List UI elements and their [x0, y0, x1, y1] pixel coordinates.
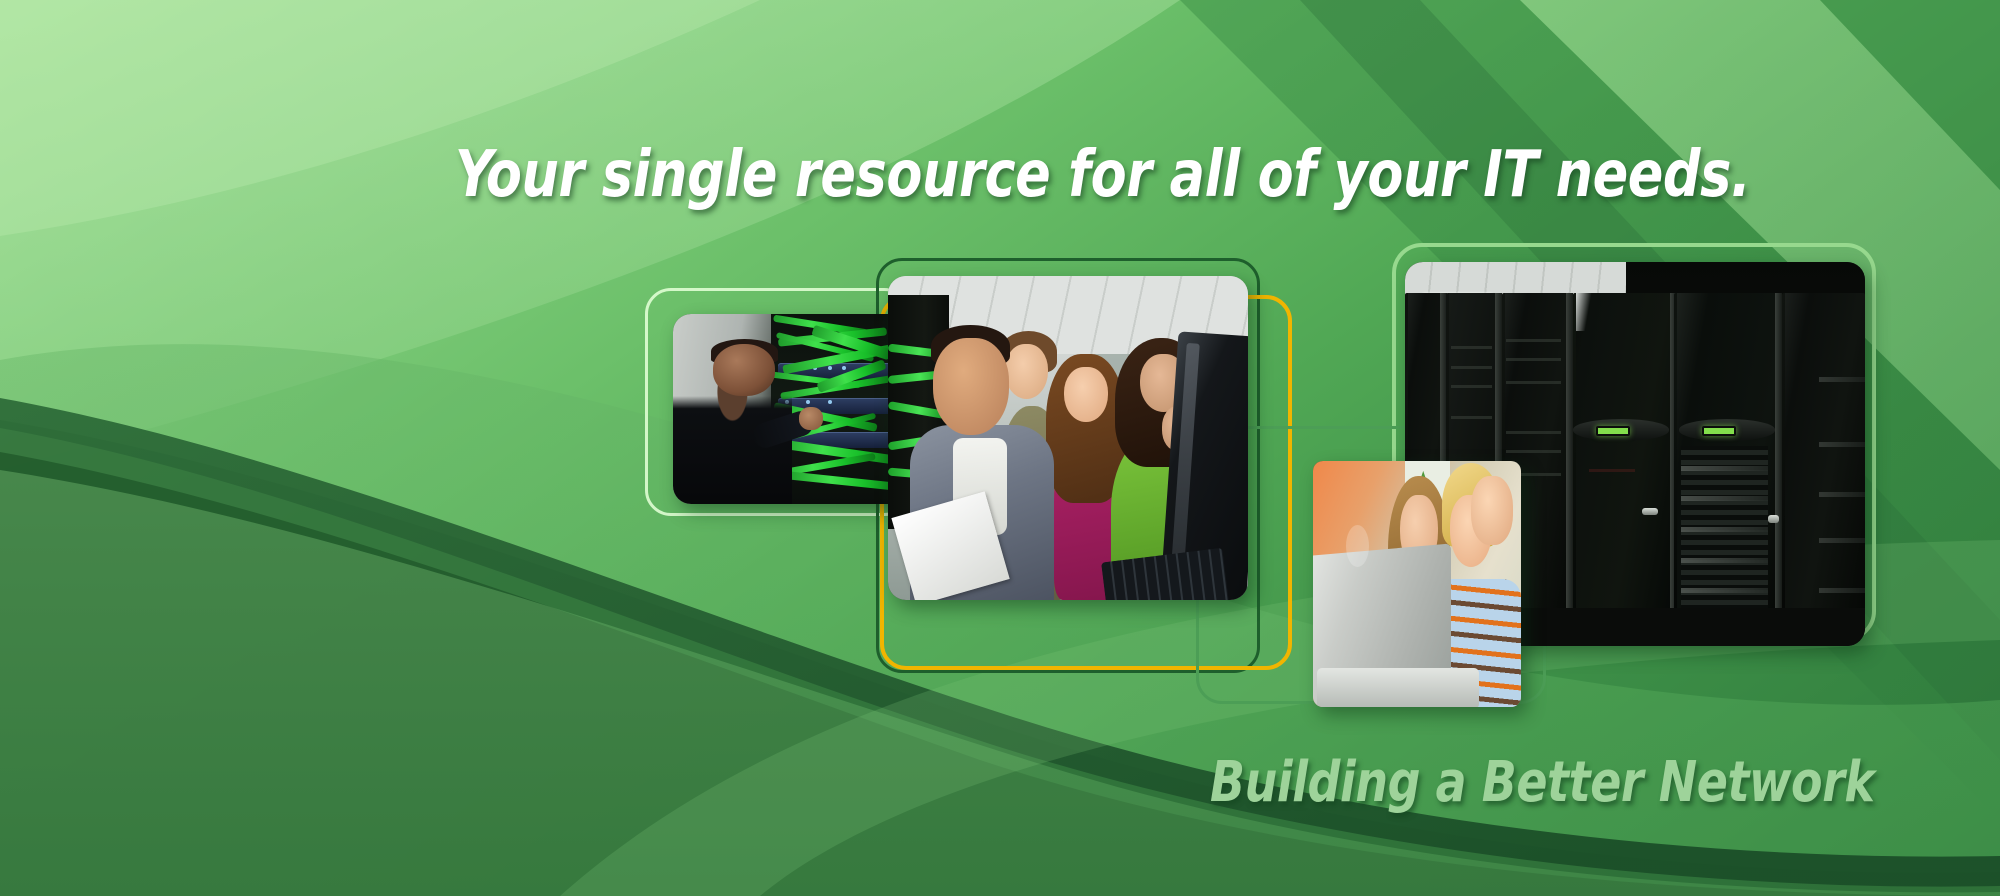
headline-text: Your single resource for all of your IT … [455, 138, 1750, 212]
students-at-computer-photo [888, 276, 1248, 600]
banner-canvas: Your single resource for all of your IT … [0, 0, 2000, 896]
teacher-and-child-photo [1313, 461, 1521, 707]
tagline-text: Building a Better Network [1210, 750, 1875, 815]
network-technician-photo [673, 314, 911, 504]
